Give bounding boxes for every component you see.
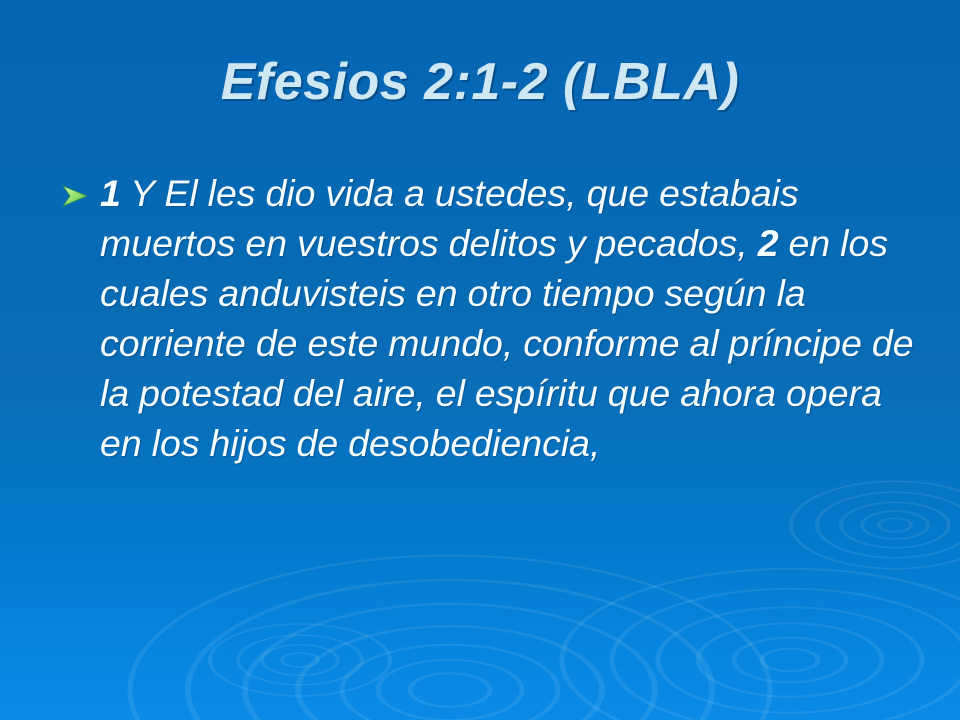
verse-segment-1: Y El les dio vida a ustedes, que estabai… (100, 172, 799, 264)
verse-number-2: 2 (758, 222, 779, 264)
page-title: Efesios 2:1-2 (LBLA) (221, 52, 740, 112)
slide-title-block: Efesios 2:1-2 (LBLA) (0, 52, 960, 112)
slide-body-block: 1 Y El les dio vida a ustedes, que estab… (60, 168, 920, 468)
arrow-head-bullet-icon (62, 184, 90, 208)
verse-number-1: 1 (100, 172, 121, 214)
verse-text: 1 Y El les dio vida a ustedes, que estab… (100, 168, 920, 468)
presentation-slide: Efesios 2:1-2 (LBLA) 1 Y El les dio vida (0, 0, 960, 720)
bullet-list-item: 1 Y El les dio vida a ustedes, que estab… (60, 168, 920, 468)
